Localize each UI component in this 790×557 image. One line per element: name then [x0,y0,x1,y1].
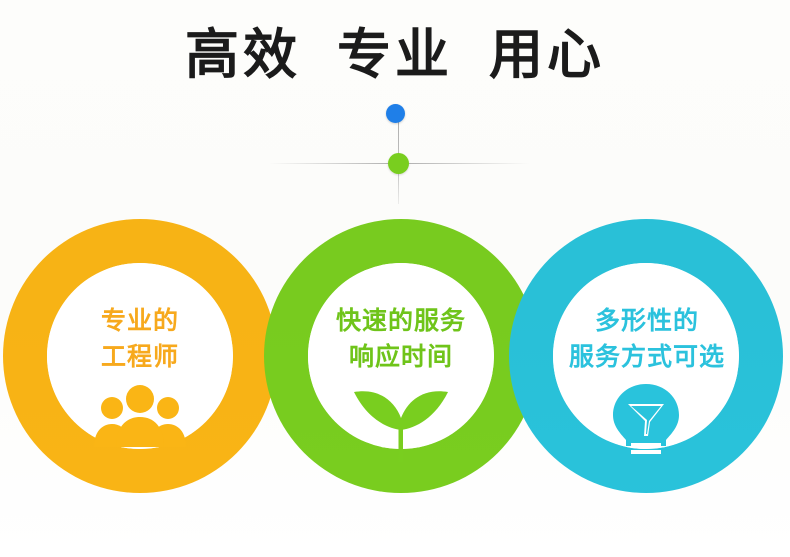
circle-label-response-time: 快速的服务 响应时间 [297,303,505,374]
circle-label-response-time-line-2: 响应时间 [297,339,505,375]
circle-label-engineers-line-2: 工程师 [40,339,240,375]
circle-label-engineers-line-1: 专业的 [40,303,240,339]
circle-label-service-modes-line-2: 服务方式可选 [533,339,761,375]
circle-label-service-modes-line-1: 多形性的 [533,303,761,339]
circle-label-service-modes: 多形性的 服务方式可选 [533,303,761,374]
circle-label-engineers: 专业的 工程师 [40,303,240,374]
circle-label-response-time-line-1: 快速的服务 [297,303,505,339]
infographic-canvas: 高效专业用心 [0,0,790,557]
